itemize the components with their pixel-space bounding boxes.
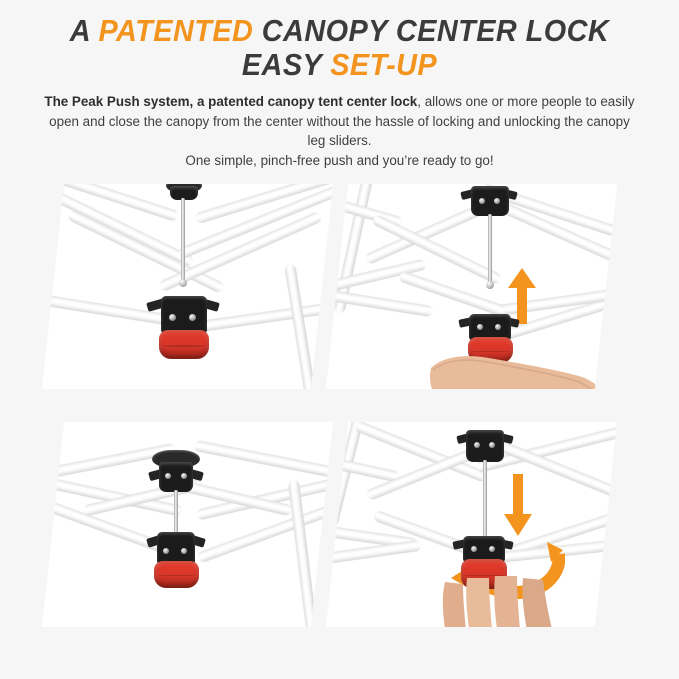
panel-bottom-left-scene	[53, 422, 322, 627]
panel-bottom-right-scene	[337, 422, 606, 627]
hub-bolt-left	[477, 324, 483, 330]
upper-hub	[159, 462, 193, 492]
frame-tube	[326, 540, 421, 568]
description-bold-lead: The Peak Push system, a patented canopy …	[44, 94, 417, 109]
panel-top-left	[42, 184, 333, 389]
center-rod	[483, 460, 487, 538]
hub-bolt-right	[489, 442, 495, 448]
hub-bolt-right	[489, 546, 495, 552]
hub-bolt-left	[479, 198, 485, 204]
frame-tube-leg	[288, 480, 317, 627]
step-image-grid	[0, 184, 679, 654]
lower-hub	[161, 296, 207, 333]
hub-bolt-right	[495, 324, 501, 330]
panel-bottom-right	[326, 422, 617, 627]
hub-bolt-right	[181, 473, 187, 479]
headline2-part-1: EASY	[242, 47, 330, 82]
red-center-lock	[154, 561, 199, 588]
headline-part-1: A	[70, 13, 99, 48]
hub-bolt-right	[181, 548, 187, 554]
hand-gripping-lock	[437, 572, 567, 627]
headline-part-2: CANOPY CENTER LOCK	[253, 13, 609, 48]
lower-hub	[157, 532, 195, 564]
header: A PATENTED CANOPY CENTER LOCK EASY SET-U…	[0, 0, 679, 170]
red-center-lock	[159, 330, 209, 359]
headline-highlight-patented: PATENTED	[98, 13, 253, 48]
hub-bolt-right	[189, 314, 196, 321]
center-rod	[488, 214, 492, 284]
panel-bottom-left	[42, 422, 333, 627]
upper-hub	[466, 430, 504, 462]
panel-top-left-scene	[53, 184, 322, 389]
hub-bolt-left	[169, 314, 176, 321]
hub-bolt-left	[165, 473, 171, 479]
frame-tube	[194, 440, 334, 483]
center-rod-tip	[179, 279, 187, 287]
panel-top-right	[326, 184, 617, 389]
description-paragraph: The Peak Push system, a patented canopy …	[40, 92, 640, 170]
headline-highlight-setup: SET-UP	[330, 47, 437, 82]
hub-bolt-left	[474, 442, 480, 448]
hub-bolt-left	[471, 546, 477, 552]
hand-supporting-lock	[427, 350, 607, 389]
center-rod	[181, 198, 185, 282]
page-title-line-2: EASY SET-UP	[41, 48, 639, 81]
page-title-line-1: A PATENTED CANOPY CENTER LOCK	[41, 14, 639, 47]
hub-bolt-left	[163, 548, 169, 554]
center-rod	[174, 490, 178, 534]
upper-hub	[471, 186, 509, 216]
product-infographic: A PATENTED CANOPY CENTER LOCK EASY SET-U…	[0, 0, 679, 679]
arrow-down-icon	[501, 474, 535, 536]
description-last-line: One simple, pinch-free push and you’re r…	[185, 153, 493, 168]
frame-tube-leg	[284, 264, 318, 389]
panel-top-right-scene	[337, 184, 606, 389]
frame-tube	[326, 449, 399, 483]
center-rod-tip	[486, 281, 494, 289]
hub-bolt-right	[494, 198, 500, 204]
